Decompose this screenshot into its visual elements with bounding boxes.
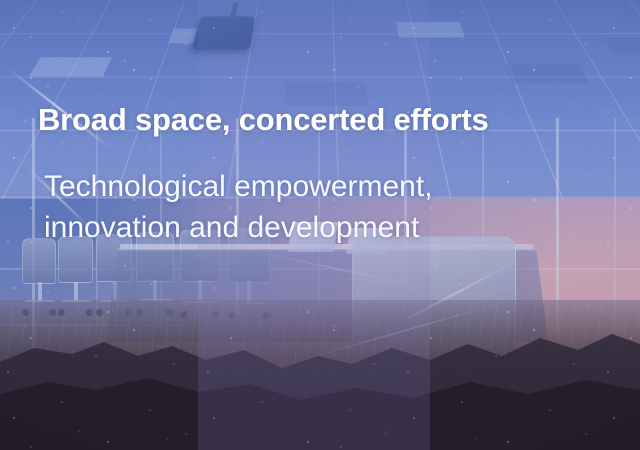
hero-banner: Broad space, concerted efforts Technolog… xyxy=(0,0,640,450)
banner-subheadline: Technological empowerment, innovation an… xyxy=(44,166,433,249)
banner-headline: Broad space, concerted efforts xyxy=(38,104,489,135)
subheadline-line-1: Technological empowerment, xyxy=(44,166,433,207)
subheadline-line-2: innovation and development xyxy=(44,207,433,248)
